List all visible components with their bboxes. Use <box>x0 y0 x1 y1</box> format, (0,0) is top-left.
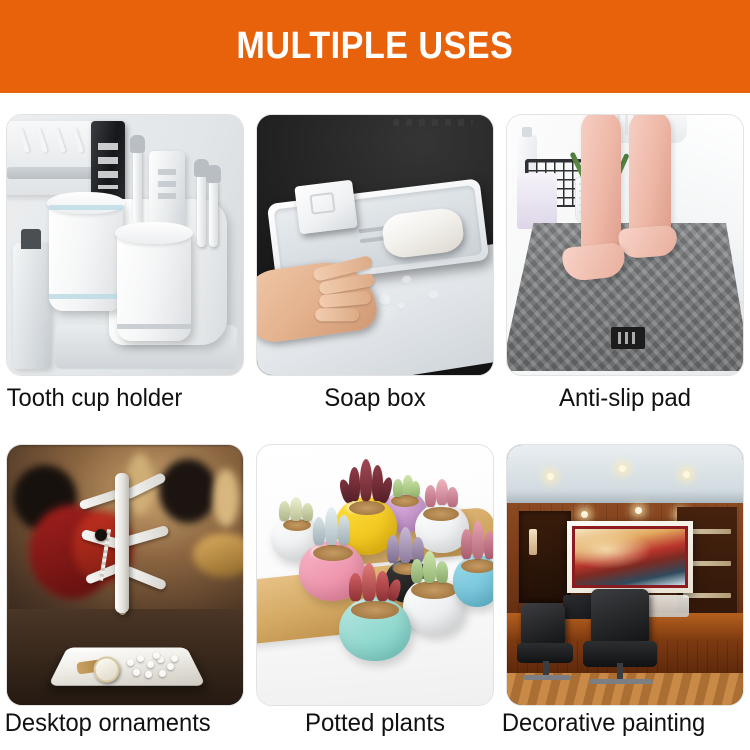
infographic-page: MULTIPLE USES <box>0 0 750 750</box>
soil <box>423 507 459 521</box>
use-case-image-decorative-painting[interactable] <box>506 444 744 706</box>
wristwatch <box>75 646 131 687</box>
soil <box>351 601 399 619</box>
scene-bath-mat-with-feet <box>507 115 743 375</box>
scene-ceramic-succulent-pots <box>257 445 493 705</box>
pendant <box>95 529 107 541</box>
background-object <box>213 469 239 527</box>
use-case-cell[interactable]: Anti-slip pad <box>500 100 750 425</box>
chair-base <box>523 675 571 680</box>
ceiling-light <box>619 465 626 472</box>
toothbrush-icon <box>197 173 206 247</box>
use-case-image-anti-slip-pad[interactable] <box>506 114 744 376</box>
chair-base <box>589 679 653 684</box>
soil <box>313 545 353 561</box>
use-case-cell[interactable]: Soap box <box>250 100 500 425</box>
accent-light <box>581 511 588 518</box>
use-case-cell[interactable]: Potted plants <box>250 425 500 750</box>
chair-seat <box>517 643 573 663</box>
toothbrush-icon <box>209 179 218 247</box>
soil <box>461 559 493 573</box>
cup-lid <box>115 222 193 244</box>
cup-accent-ring <box>117 324 191 329</box>
ceiling-light <box>547 473 554 480</box>
scene-jewelry-tree-stand <box>7 445 243 705</box>
texture-dots <box>393 119 473 126</box>
scene-soap-tray-with-hand <box>257 115 493 375</box>
folded-towel <box>517 173 557 229</box>
tooth-cup <box>49 201 123 311</box>
tree-trunk <box>115 473 129 613</box>
use-case-caption: Soap box <box>255 384 495 413</box>
scene-bathroom-toothbrush-holder <box>7 115 243 375</box>
cup-accent-ring <box>49 294 123 299</box>
display-niche <box>519 511 571 603</box>
use-case-caption: Anti-slip pad <box>505 384 745 413</box>
use-case-cell[interactable]: Desktop ornaments <box>0 425 250 750</box>
toothbrush-icon <box>133 149 142 225</box>
office-chair <box>517 603 587 687</box>
use-case-cell[interactable]: Decorative painting <box>500 425 750 750</box>
framed-painting <box>567 521 693 593</box>
use-case-grid: Tooth cup holder <box>0 100 750 750</box>
office-chair <box>581 589 677 693</box>
use-case-cell[interactable]: Tooth cup holder <box>0 100 250 425</box>
ceiling-light <box>683 471 690 478</box>
use-case-caption: Tooth cup holder <box>0 384 238 413</box>
use-case-image-tooth-cup-holder[interactable] <box>6 114 244 376</box>
use-case-image-soap-box[interactable] <box>256 114 494 376</box>
brand-tag <box>611 327 645 349</box>
use-case-image-desktop-ornaments[interactable] <box>6 444 244 706</box>
use-case-caption: Desktop ornaments <box>0 709 238 738</box>
chair-back <box>591 589 649 645</box>
bead-pile <box>123 651 183 681</box>
soap-dispenser <box>13 243 51 369</box>
leg <box>629 115 671 241</box>
landscape-artwork <box>575 529 685 585</box>
use-case-caption: Decorative painting <box>500 709 738 738</box>
soil <box>411 581 457 599</box>
use-case-image-potted-plants[interactable] <box>256 444 494 706</box>
leg <box>581 115 621 263</box>
cup-lid <box>47 192 125 214</box>
header-banner: MULTIPLE USES <box>0 0 750 93</box>
soap-box-lid <box>294 180 357 235</box>
page-title: MULTIPLE USES <box>237 25 514 68</box>
accent-light <box>635 507 642 514</box>
use-case-caption: Potted plants <box>255 709 495 738</box>
cup-accent-ring <box>49 205 123 210</box>
background-object <box>159 459 217 523</box>
book-row <box>683 593 731 598</box>
soil <box>349 501 385 515</box>
tooth-cup <box>117 231 191 341</box>
finger <box>315 308 359 321</box>
scene-office-interior <box>507 445 743 705</box>
chair-back <box>521 603 565 647</box>
